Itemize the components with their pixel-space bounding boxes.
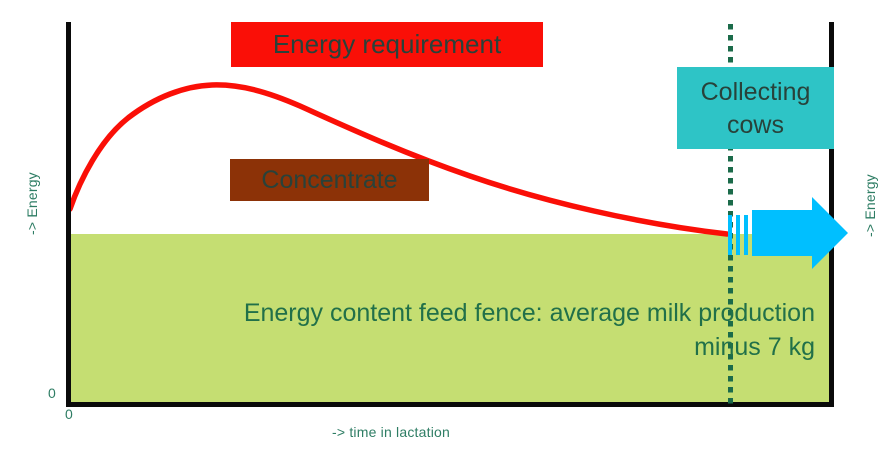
callout-energy-requirement-label: Energy requirement — [273, 29, 501, 60]
y-axis-zero-tick: 0 — [48, 385, 56, 401]
x-axis — [66, 402, 833, 407]
callout-collecting-cows-line-2: cows — [727, 109, 784, 142]
x-axis-zero-tick: 0 — [65, 406, 73, 422]
y-axis-right-label: -> Energy — [862, 174, 878, 237]
y-axis-left-label: -> Energy — [24, 172, 40, 235]
callout-collecting-cows: Collecting cows — [677, 67, 834, 149]
callout-concentrate: Concentrate — [230, 159, 429, 201]
x-axis-label: -> time in lactation — [332, 424, 450, 440]
callout-collecting-cows-line-1: Collecting — [701, 76, 811, 109]
feed-fence-line-1: Energy content feed fence: average milk … — [70, 296, 815, 330]
feed-fence-line-2: minus 7 kg — [70, 330, 815, 364]
callout-energy-requirement: Energy requirement — [231, 22, 543, 67]
collecting-cows-arrow-icon — [708, 192, 853, 277]
chart-canvas: Energy content feed fence: average milk … — [0, 0, 894, 466]
feed-fence-text: Energy content feed fence: average milk … — [70, 296, 825, 364]
callout-concentrate-label: Concentrate — [261, 166, 397, 195]
